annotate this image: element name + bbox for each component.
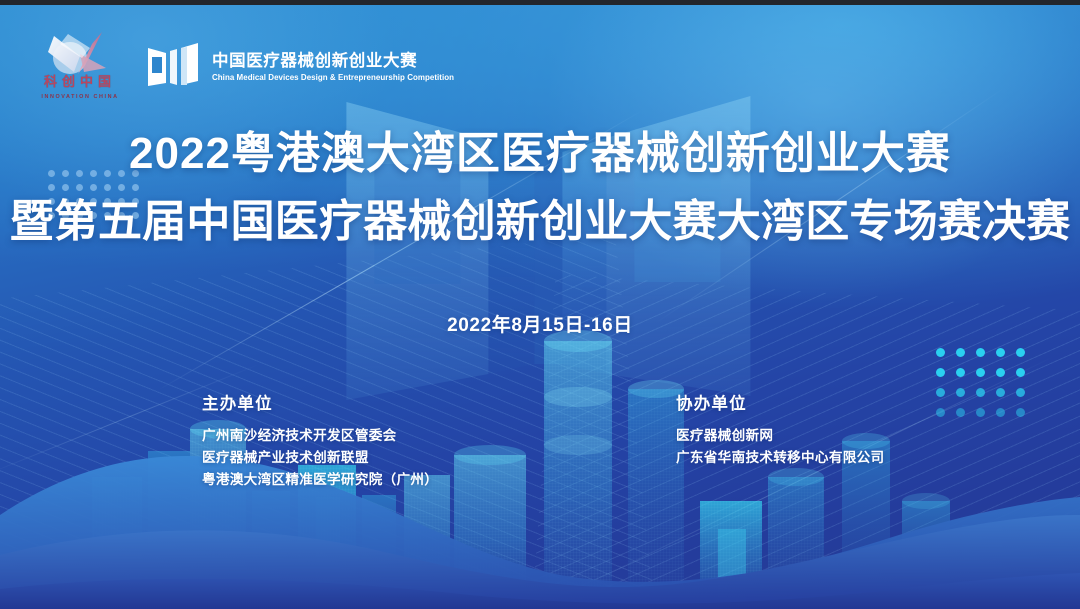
- host-organizer-line: 粤港澳大湾区精准医学研究院（广州）: [202, 469, 438, 491]
- co-organizer-line: 广东省华南技术转移中心有限公司: [676, 447, 884, 469]
- competition-cn-title: 中国医疗器械创新创业大赛: [212, 47, 462, 71]
- open-door-book-mark-icon: [146, 39, 200, 89]
- organizers-section: 主办单位 广州南沙经济技术开发区管委会 医疗器械产业技术创新联盟 粤港澳大湾区精…: [0, 390, 1080, 510]
- innovation-china-cn-label: 科创中国: [36, 71, 124, 90]
- poster-title-line1: 2022粤港澳大湾区医疗器械创新创业大赛: [0, 125, 1080, 183]
- host-organizer-line: 医疗器械产业技术创新联盟: [202, 447, 438, 469]
- co-organizer-block: 协办单位 医疗器械创新网 广东省华南技术转移中心有限公司: [676, 390, 884, 469]
- event-date: 2022年8月15日-16日: [0, 310, 1080, 337]
- header-logos: 科创中国 INNOVATION CHINA 中国医疗器械创新创业大赛 China…: [36, 28, 462, 100]
- host-organizer-heading: 主办单位: [202, 390, 438, 414]
- main-titles: 2022粤港澳大湾区医疗器械创新创业大赛 暨第五届中国医疗器械创新创业大赛大湾区…: [0, 125, 1080, 251]
- poster-title-line2: 暨第五届中国医疗器械创新创业大赛大湾区专场赛决赛: [0, 193, 1080, 251]
- competition-en-title: China Medical Devices Design & Entrepren…: [212, 73, 454, 82]
- co-organizer-heading: 协办单位: [676, 390, 884, 414]
- logo-innovation-china: 科创中国 INNOVATION CHINA: [36, 28, 124, 100]
- innovation-china-en-label: INNOVATION CHINA: [36, 94, 124, 100]
- host-organizer-line: 广州南沙经济技术开发区管委会: [202, 425, 438, 447]
- logo-competition: 中国医疗器械创新创业大赛 China Medical Devices Desig…: [146, 39, 462, 89]
- host-organizer-block: 主办单位 广州南沙经济技术开发区管委会 医疗器械产业技术创新联盟 粤港澳大湾区精…: [202, 390, 438, 491]
- co-organizer-line: 医疗器械创新网: [676, 425, 884, 447]
- top-dark-strip: [0, 0, 1080, 5]
- event-poster: 科创中国 INNOVATION CHINA 中国医疗器械创新创业大赛 China…: [0, 0, 1080, 609]
